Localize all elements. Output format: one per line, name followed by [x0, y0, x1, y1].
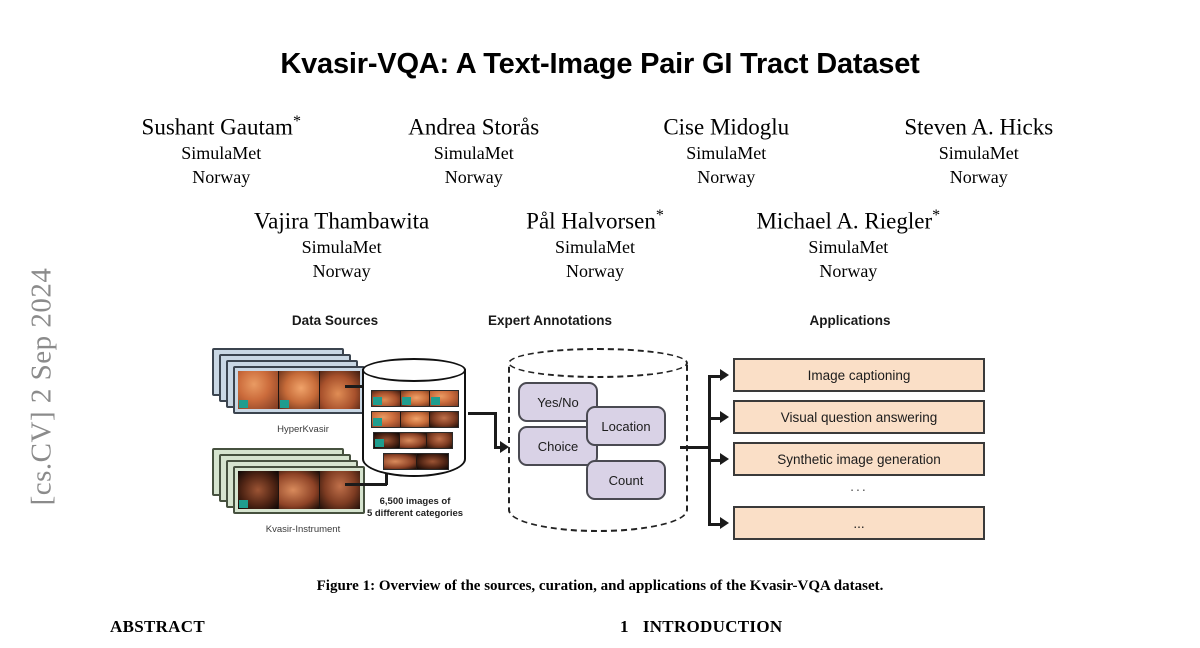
section-number: 1 [620, 617, 629, 636]
author-name-text: Michael A. Riegler [756, 209, 932, 234]
arrow-icon [720, 517, 729, 529]
author-block: Sushant Gautam* SimulaMet Norway [95, 108, 348, 189]
section-heading-introduction: 1INTRODUCTION [620, 617, 782, 637]
kvasir-instrument-label: Kvasir-Instrument [212, 524, 394, 535]
author-name: Michael A. Riegler* [722, 202, 975, 235]
endoscopy-thumbnail [401, 391, 429, 406]
cylinder-top [362, 358, 466, 382]
author-corresponding-marker: * [932, 207, 940, 224]
arrow-icon [720, 369, 729, 381]
connector-line [680, 446, 710, 449]
annotation-marker-icon [431, 397, 440, 405]
endoscopy-thumbnail [320, 371, 360, 409]
arrow-icon [720, 411, 729, 423]
cylinder-image-rows [371, 390, 459, 474]
author-affiliation: SimulaMet [95, 141, 348, 165]
endoscopy-thumbnail [238, 471, 278, 509]
application-synthetic-image-generation[interactable]: Synthetic image generation [733, 442, 985, 476]
author-name: Steven A. Hicks [853, 108, 1106, 141]
author-country: Norway [95, 165, 348, 189]
connector-bus-line [708, 375, 711, 523]
author-affiliation: SimulaMet [215, 235, 468, 259]
author-name: Cise Midoglu [600, 108, 853, 141]
author-name: Vajira Thambawita [215, 202, 468, 235]
cylinder-image-row [371, 411, 459, 428]
cylinder-image-row [371, 390, 459, 407]
author-affiliation: SimulaMet [600, 141, 853, 165]
author-name: Sushant Gautam* [95, 108, 348, 141]
endoscopy-thumbnail [384, 454, 416, 469]
author-block: Cise Midoglu SimulaMet Norway [600, 108, 853, 189]
annotation-marker-icon [239, 400, 248, 408]
connector-line [494, 412, 497, 448]
author-name-text: Steven A. Hicks [904, 115, 1053, 140]
author-country: Norway [853, 165, 1106, 189]
author-affiliation: SimulaMet [853, 141, 1106, 165]
paper-page: [cs.CV] 2 Sep 2024 Kvasir-VQA: A Text-Im… [0, 0, 1200, 648]
annotation-marker-icon [239, 500, 248, 508]
endoscopy-thumbnail [372, 391, 400, 406]
author-name-text: Sushant Gautam [142, 115, 293, 140]
annotation-marker-icon [280, 400, 289, 408]
application-visual-question-answering[interactable]: Visual question answering [733, 400, 985, 434]
author-country: Norway [215, 259, 468, 283]
author-country: Norway [348, 165, 601, 189]
author-name-text: Andrea Storås [408, 115, 539, 140]
connector-line [468, 412, 496, 415]
author-affiliation: SimulaMet [722, 235, 975, 259]
expert-annotations-cylinder: Yes/No Choice Location Count [508, 348, 688, 546]
author-block: Vajira Thambawita SimulaMet Norway [215, 202, 468, 283]
application-more[interactable]: ... [733, 506, 985, 540]
endoscopy-thumbnail [374, 433, 399, 448]
endoscopy-thumbnail [417, 454, 449, 469]
cylinder-image-row [383, 453, 449, 470]
endoscopy-thumbnail [238, 371, 278, 409]
author-name-text: Pål Halvorsen [526, 209, 656, 234]
author-corresponding-marker: * [293, 113, 301, 130]
hyperkvasir-image-stack [212, 348, 372, 420]
annotation-marker-icon [373, 418, 382, 426]
annotation-type-count[interactable]: Count [586, 460, 666, 500]
section-title: INTRODUCTION [643, 617, 783, 636]
annotation-type-location[interactable]: Location [586, 406, 666, 446]
application-image-captioning[interactable]: Image captioning [733, 358, 985, 392]
author-block: Pål Halvorsen* SimulaMet Norway [468, 202, 721, 283]
database-caption-line-1: 6,500 images of [340, 496, 490, 508]
author-country: Norway [722, 259, 975, 283]
figure-caption: Figure 1: Overview of the sources, curat… [0, 578, 1200, 595]
arxiv-stamp: [cs.CV] 2 Sep 2024 [26, 237, 59, 537]
endoscopy-thumbnail [430, 391, 458, 406]
author-name-text: Cise Midoglu [663, 115, 789, 140]
stack-sheet-front [233, 366, 365, 414]
curated-database-cylinder [362, 358, 470, 488]
cylinder-image-row [373, 432, 453, 449]
endoscopy-thumbnail [400, 433, 425, 448]
database-caption-line-2: 5 different categories [340, 508, 490, 520]
section-heading-abstract: ABSTRACT [110, 617, 205, 637]
endoscopy-thumbnail [279, 471, 319, 509]
annotation-marker-icon [402, 397, 411, 405]
author-block: Steven A. Hicks SimulaMet Norway [853, 108, 1106, 189]
author-block: Michael A. Riegler* SimulaMet Norway [722, 202, 975, 283]
database-caption: 6,500 images of 5 different categories [340, 496, 490, 520]
endoscopy-thumbnail-strip [238, 371, 360, 409]
author-affiliation: SimulaMet [468, 235, 721, 259]
annotation-marker-icon [373, 397, 382, 405]
annotation-cylinder-top [508, 348, 688, 378]
endoscopy-thumbnail [430, 412, 458, 427]
author-block: Andrea Storås SimulaMet Norway [348, 108, 601, 189]
overview-figure: Data Sources Expert Annotations Applicat… [190, 300, 1010, 558]
author-corresponding-marker: * [656, 207, 664, 224]
arrow-icon [720, 453, 729, 465]
figure-header-applications: Applications [750, 313, 950, 328]
figure-header-expert-annotations: Expert Annotations [450, 313, 650, 328]
endoscopy-thumbnail [427, 433, 452, 448]
endoscopy-thumbnail [279, 371, 319, 409]
author-name-text: Vajira Thambawita [254, 209, 429, 234]
endoscopy-thumbnail [372, 412, 400, 427]
author-country: Norway [600, 165, 853, 189]
author-row-2: Vajira Thambawita SimulaMet Norway Pål H… [215, 202, 975, 283]
author-row-1: Sushant Gautam* SimulaMet Norway Andrea … [95, 108, 1105, 189]
author-country: Norway [468, 259, 721, 283]
author-name: Andrea Storås [348, 108, 601, 141]
author-name: Pål Halvorsen* [468, 202, 721, 235]
author-affiliation: SimulaMet [348, 141, 601, 165]
endoscopy-thumbnail [401, 412, 429, 427]
applications-ellipsis: ... [733, 478, 985, 494]
page-title: Kvasir-VQA: A Text-Image Pair GI Tract D… [0, 48, 1200, 81]
figure-header-data-sources: Data Sources [245, 313, 425, 328]
annotation-marker-icon [375, 439, 384, 447]
